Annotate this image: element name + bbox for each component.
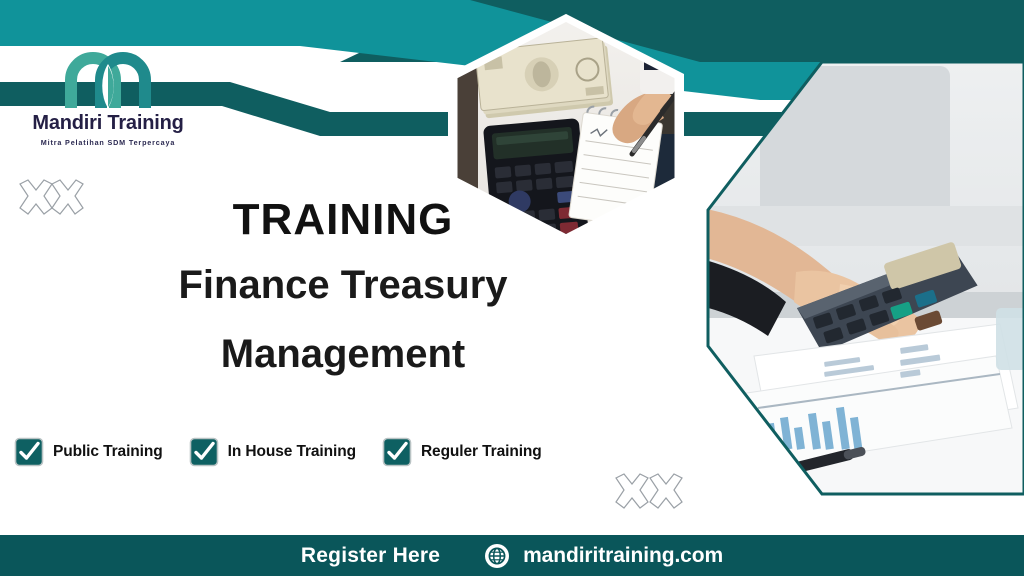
checkbox-checked-icon[interactable]	[14, 437, 44, 467]
footer-bar: Register Here mandiritraining.com	[0, 535, 1024, 576]
hexagon-photo-hands-calculator-reports	[700, 56, 1024, 500]
promo-poster: Mandiri Training Mitra Pelatihan SDM Ter…	[0, 0, 1024, 576]
banner-block-light-left	[0, 0, 305, 46]
brand-tagline: Mitra Pelatihan SDM Terpercaya	[18, 138, 198, 147]
headline-title-line1: Finance Treasury	[88, 260, 598, 311]
brand-logo[interactable]: Mandiri Training Mitra Pelatihan SDM Ter…	[18, 52, 198, 147]
training-option-label: Reguler Training	[421, 443, 542, 461]
training-option-label: In House Training	[228, 443, 356, 461]
training-option-public[interactable]: Public Training	[14, 437, 163, 467]
headline: TRAINING Finance Treasury Management	[88, 198, 598, 380]
checkbox-checked-icon[interactable]	[189, 437, 219, 467]
training-option-reguler[interactable]: Reguler Training	[382, 437, 542, 467]
register-here-cta[interactable]: Register Here	[301, 544, 440, 568]
mandiri-monogram-icon	[65, 52, 151, 110]
training-option-label: Public Training	[53, 443, 163, 461]
headline-title-line2: Management	[88, 329, 598, 380]
checkbox-checked-icon[interactable]	[382, 437, 412, 467]
globe-icon	[484, 543, 510, 569]
headline-kicker: TRAINING	[88, 198, 598, 242]
brand-name: Mandiri Training	[18, 112, 198, 135]
x-cross-outline-icon-mid	[608, 472, 686, 516]
training-option-in-house[interactable]: In House Training	[189, 437, 356, 467]
website-url[interactable]: mandiritraining.com	[523, 544, 723, 568]
training-options: Public Training In House Training Regule…	[14, 437, 568, 467]
x-cross-outline-icon-left	[12, 178, 84, 222]
